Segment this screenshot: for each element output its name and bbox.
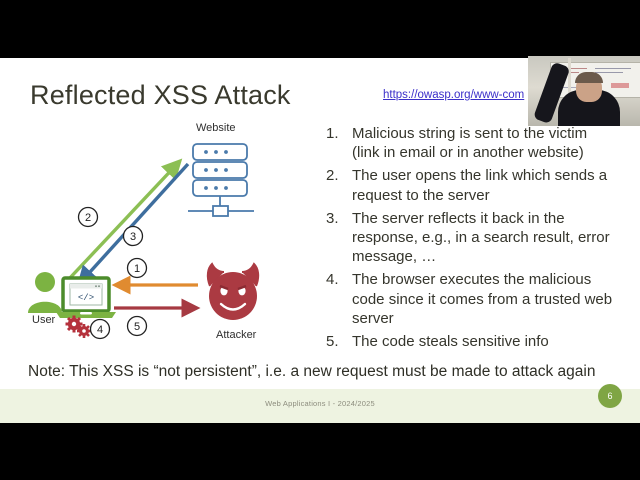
list-item-text: The code steals sensitive info xyxy=(352,332,549,351)
list-item-number: 4. xyxy=(326,270,352,328)
steps-list: 1. Malicious string is sent to the victi… xyxy=(326,124,616,355)
marker-3: 3 xyxy=(130,231,136,243)
server-icon xyxy=(188,144,254,216)
website-label: Website xyxy=(196,122,236,134)
list-item-number: 1. xyxy=(326,124,352,162)
page-title: Reflected XSS Attack xyxy=(30,80,291,111)
marker-4: 4 xyxy=(97,324,103,336)
note-text: Note: This XSS is “not persistent”, i.e.… xyxy=(28,363,595,381)
attacker-icon xyxy=(208,264,258,320)
user-icon xyxy=(28,272,62,313)
webcam-overlay[interactable] xyxy=(528,56,640,126)
list-item: 1. Malicious string is sent to the victi… xyxy=(326,124,616,162)
diagram-svg: </> xyxy=(16,118,316,358)
letterbox-bar-bottom xyxy=(0,423,640,480)
list-item-number: 2. xyxy=(326,166,352,204)
svg-text:</>: </> xyxy=(78,293,94,303)
marker-2: 2 xyxy=(85,212,91,224)
video-player-frame: Reflected XSS Attack https://owasp.org/w… xyxy=(0,0,640,480)
owasp-link[interactable]: https://owasp.org/www-com xyxy=(383,89,524,101)
gears-icon xyxy=(66,316,92,339)
marker-5: 5 xyxy=(134,321,140,333)
list-item-text: The browser executes the malicious code … xyxy=(352,270,616,328)
attacker-label: Attacker xyxy=(216,329,256,341)
list-item: 5. The code steals sensitive info xyxy=(326,332,616,351)
list-item: 2. The user opens the link which sends a… xyxy=(326,166,616,204)
user-label: User xyxy=(32,314,55,326)
attack-flow-diagram: </> xyxy=(16,118,316,358)
marker-1: 1 xyxy=(134,263,140,275)
footer-course-label: Web Applications I - 2024/2025 xyxy=(265,399,375,408)
laptop-icon: </> xyxy=(56,278,116,318)
page-number-badge: 6 xyxy=(598,384,622,408)
slide-footer: Web Applications I - 2024/2025 xyxy=(0,389,640,423)
list-item-number: 5. xyxy=(326,332,352,351)
list-item-text: The server reflects it back in the respo… xyxy=(352,209,616,267)
letterbox-bar-top xyxy=(0,0,640,58)
list-item: 3. The server reflects it back in the re… xyxy=(326,209,616,267)
list-item-text: The user opens the link which sends a re… xyxy=(352,166,616,204)
list-item-text: Malicious string is sent to the victim (… xyxy=(352,124,616,162)
list-item-number: 3. xyxy=(326,209,352,267)
presenter-hair xyxy=(575,72,603,83)
list-item: 4. The browser executes the malicious co… xyxy=(326,270,616,328)
